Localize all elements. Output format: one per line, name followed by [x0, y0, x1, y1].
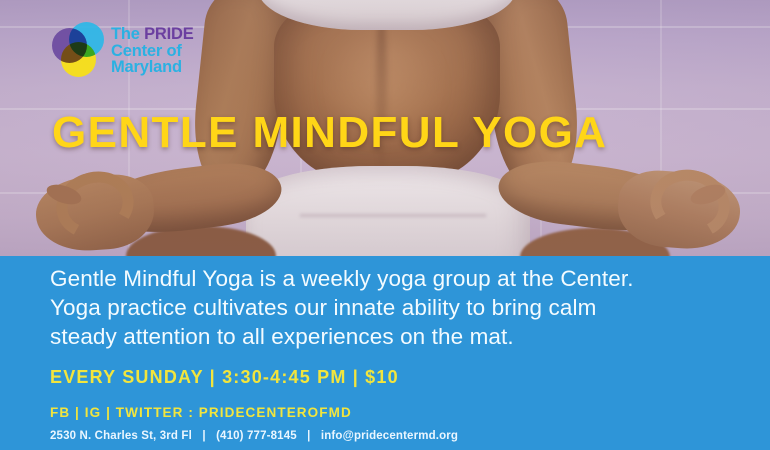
description-line-3: steady attention to all experiences on t…	[50, 322, 740, 351]
contact-address: 2530 N. Charles St, 3rd Fl	[50, 430, 192, 442]
logo-text-the: The	[111, 25, 144, 43]
contact-line: 2530 N. Charles St, 3rd Fl | (410) 777-8…	[50, 430, 458, 442]
description-line-2: Yoga practice cultivates our innate abil…	[50, 293, 740, 322]
logo-text-maryland: Maryland	[111, 59, 194, 76]
description-block: Gentle Mindful Yoga is a weekly yoga gro…	[50, 264, 740, 351]
pride-center-logo: The PRIDE Center of Maryland	[52, 22, 194, 80]
logo-wordmark: The PRIDE Center of Maryland	[111, 26, 194, 76]
contact-email[interactable]: info@pridecentermd.org	[321, 430, 458, 442]
contact-phone[interactable]: (410) 777-8145	[216, 430, 297, 442]
logo-text-pride: PRIDE	[144, 25, 193, 43]
social-handles-line: FB | IG | TWITTER : PRIDECENTEROFMD	[50, 405, 352, 420]
page-title: GENTLE MINDFUL YOGA	[52, 108, 607, 158]
logo-circles-icon	[52, 22, 104, 80]
contact-separator-2: |	[300, 430, 317, 442]
description-line-1: Gentle Mindful Yoga is a weekly yoga gro…	[50, 264, 740, 293]
info-panel: Gentle Mindful Yoga is a weekly yoga gro…	[0, 256, 770, 450]
schedule-line: EVERY SUNDAY | 3:30-4:45 PM | $10	[50, 367, 399, 388]
logo-text-center-of: Center of	[111, 43, 194, 60]
contact-separator-1: |	[195, 430, 212, 442]
leggings-garment	[246, 166, 530, 258]
logo-circle-yellow-icon	[61, 42, 96, 77]
yoga-event-flyer: The PRIDE Center of Maryland GENTLE MIND…	[0, 0, 770, 450]
